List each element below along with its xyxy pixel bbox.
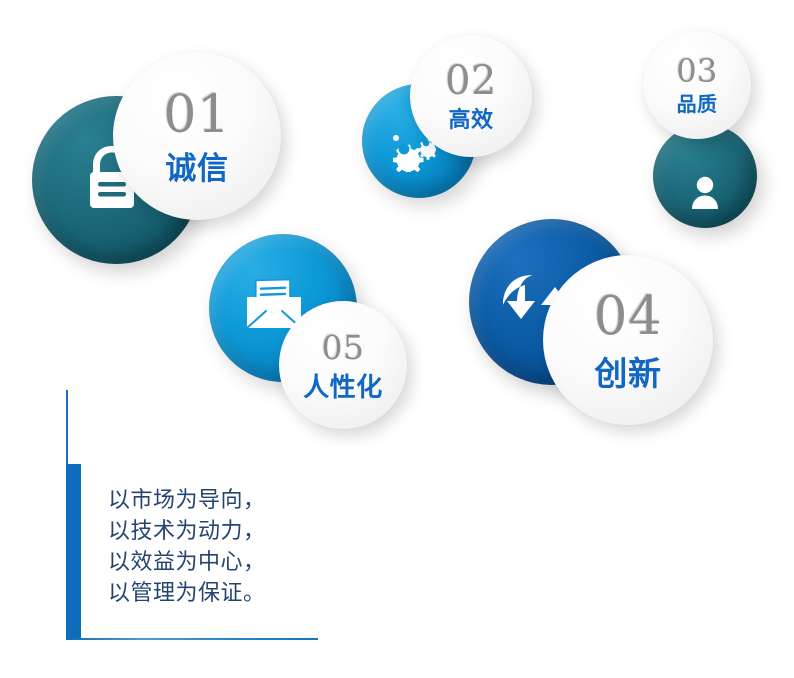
item-number-02: 02	[445, 61, 497, 101]
user-icon	[689, 176, 721, 210]
item-number-03: 03	[676, 55, 717, 87]
quote-thin-rule	[66, 390, 68, 466]
label-circle-02[interactable]: 02 高效	[410, 35, 532, 157]
item-label-04: 创新	[594, 357, 661, 390]
label-circle-04[interactable]: 04 创新	[543, 255, 713, 425]
item-label-03: 品质	[677, 95, 718, 115]
quote-text: 以市场为导向， 以技术为动力， 以效益为中心， 以管理为保证。	[108, 484, 266, 608]
quote-bottom-rule	[66, 638, 318, 640]
item-number-04: 04	[594, 290, 663, 343]
item-label-05: 人性化	[303, 374, 383, 400]
label-circle-05[interactable]: 05 人性化	[279, 301, 407, 429]
item-number-05: 05	[322, 331, 365, 364]
infographic-canvas: 01 诚信 02 高效 0	[0, 0, 794, 678]
item-number-01: 01	[163, 89, 230, 141]
quote-thick-rule	[66, 464, 81, 640]
icon-circle-03[interactable]	[653, 124, 757, 228]
label-circle-03[interactable]: 03 品质	[643, 31, 751, 139]
label-circle-01[interactable]: 01 诚信	[113, 52, 281, 220]
item-label-01: 诚信	[165, 153, 228, 184]
item-label-02: 高效	[449, 109, 494, 131]
